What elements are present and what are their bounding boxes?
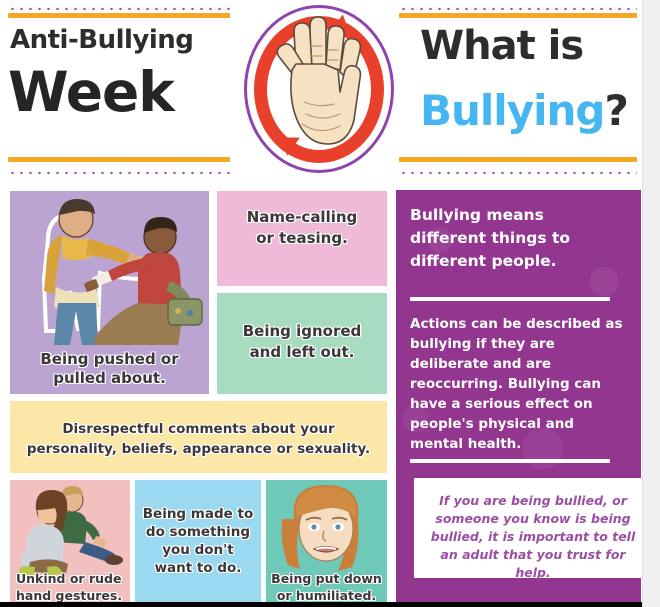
title-anti-bullying: Anti-Bullying bbox=[10, 25, 238, 55]
viewport-bottom-edge bbox=[0, 602, 643, 607]
orange-rule-bottom-right bbox=[399, 157, 637, 162]
title-question-mark: ? bbox=[604, 86, 627, 135]
sad-girl-face-illustration bbox=[266, 483, 387, 575]
panel-divider-top bbox=[410, 297, 610, 301]
dotted-rule-top-right bbox=[399, 6, 637, 10]
example-card-made-to-do[interactable]: Being made todo somethingyou don'twant t… bbox=[135, 480, 261, 607]
poster-header: Anti-Bullying Week What is Bullying? bbox=[0, 0, 643, 180]
vertical-scrollbar[interactable] bbox=[642, 0, 660, 607]
example-card-name-calling[interactable]: Name-callingor teasing. bbox=[217, 191, 387, 286]
example-label-put-down: Being put downor humiliated. bbox=[268, 570, 385, 604]
panel-callout-text: If you are being bullied, or someone you… bbox=[422, 492, 641, 582]
example-label-disrespectful: Disrespectful comments about yourpersona… bbox=[18, 419, 379, 459]
open-palm-icon bbox=[270, 14, 368, 166]
orange-rule-top-right bbox=[399, 13, 637, 18]
example-label-made-to-do: Being made todo somethingyou don'twant t… bbox=[139, 505, 257, 577]
example-card-unkind-gestures[interactable]: Unkind or rudehand gestures. bbox=[10, 480, 130, 607]
title-bullying-word: Bullying bbox=[420, 86, 604, 135]
title-week: Week bbox=[8, 62, 238, 122]
panel-divider-bottom bbox=[410, 459, 610, 463]
panel-callout-box: If you are being bullied, or someone you… bbox=[414, 478, 641, 578]
example-label-unkind-gestures: Unkind or rudehand gestures. bbox=[12, 570, 128, 604]
orange-rule-bottom-left bbox=[8, 157, 230, 162]
two-children-pushing-illustration bbox=[10, 195, 209, 345]
poster-page: Anti-Bullying Week What is Bullying? bbox=[0, 0, 660, 607]
example-card-pushed[interactable]: Being pushed orpulled about. bbox=[10, 191, 209, 394]
example-card-put-down[interactable]: Being put downor humiliated. bbox=[266, 480, 387, 607]
dotted-rule-bottom-right bbox=[399, 170, 637, 174]
orange-rule-top-left bbox=[8, 13, 230, 18]
panel-heading: Bullying means different things to diffe… bbox=[410, 204, 620, 273]
examples-grid: Being pushed orpulled about. Name-callin… bbox=[8, 188, 388, 607]
girl-upset-boy-gesturing-illustration bbox=[10, 484, 130, 576]
example-card-ignored[interactable]: Being ignoredand left out. bbox=[217, 293, 387, 394]
title-bullying-question: Bullying? bbox=[420, 88, 628, 134]
example-label-pushed: Being pushed orpulled about. bbox=[14, 350, 205, 388]
definition-panel: Bullying means different things to diffe… bbox=[396, 190, 641, 607]
title-what-is: What is bbox=[420, 24, 583, 68]
example-card-disrespectful[interactable]: Disrespectful comments about yourpersona… bbox=[10, 401, 387, 473]
dotted-rule-bottom-left bbox=[8, 170, 230, 174]
panel-body-text: Actions can be described as bullying if … bbox=[410, 314, 625, 454]
dotted-rule-top-left bbox=[8, 6, 230, 10]
example-label-ignored: Being ignoredand left out. bbox=[223, 321, 381, 363]
stop-hand-icon bbox=[240, 2, 398, 178]
example-label-name-calling: Name-callingor teasing. bbox=[223, 207, 381, 249]
